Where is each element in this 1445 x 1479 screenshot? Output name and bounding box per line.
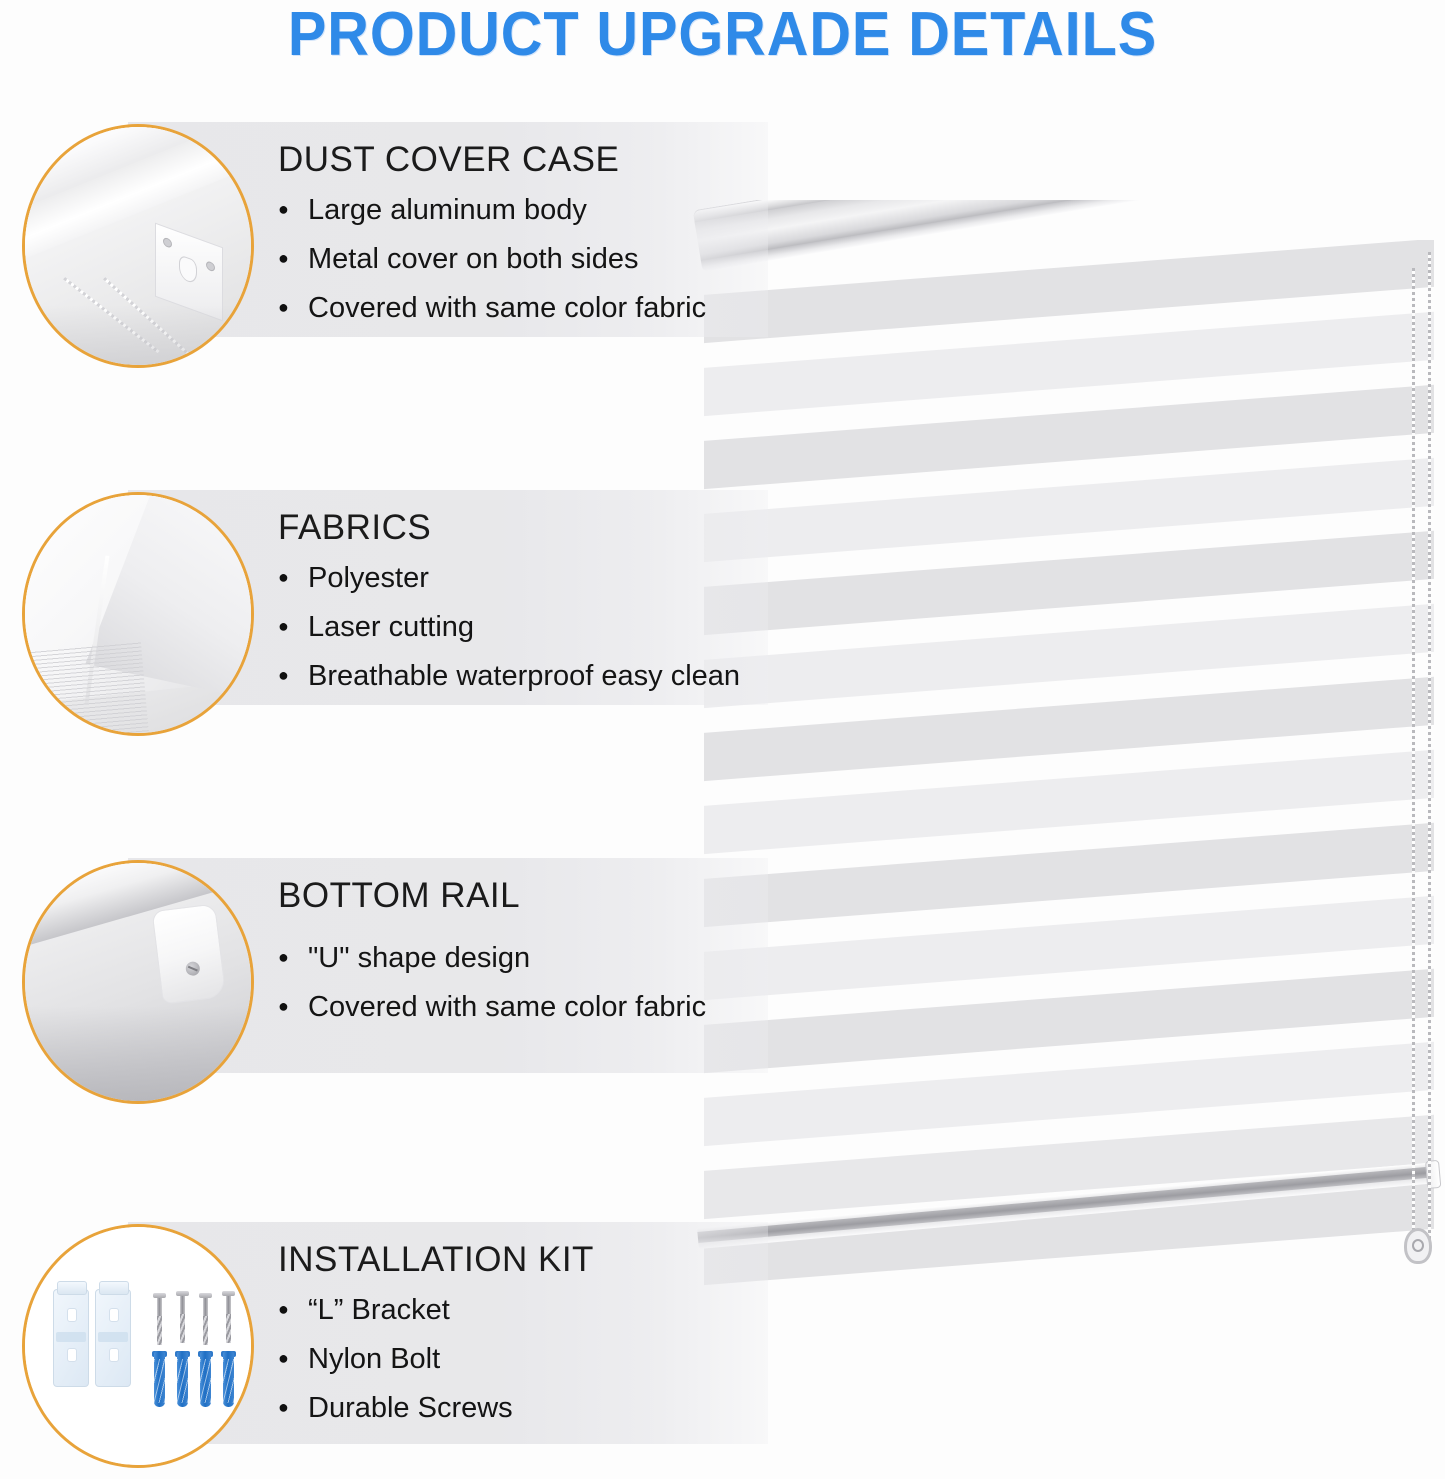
bracket-hole — [67, 1348, 77, 1362]
screw-icon — [157, 1293, 162, 1345]
feature-bullet: “L” Bracket — [278, 1286, 768, 1335]
screw-icon — [180, 1291, 185, 1343]
anchor-body — [200, 1351, 211, 1407]
feature-bullet: Nylon Bolt — [278, 1335, 768, 1384]
bead-chain-right-strand — [1428, 252, 1431, 1252]
bracket-tab — [56, 1332, 86, 1342]
feature-photo-oval-bottom-rail — [22, 860, 254, 1104]
bottom-rail-endcap-photo — [25, 863, 251, 1101]
anchor-body — [177, 1351, 188, 1407]
feature-block-bottom-rail: BOTTOM RAIL "U" shape design Covered wit… — [8, 858, 768, 1108]
fabric-mesh-texture — [22, 642, 149, 736]
feature-block-fabrics: FABRICS Polyester Laser cutting Breathab… — [8, 490, 768, 740]
photo-shadow — [25, 305, 251, 365]
l-bracket-icon — [53, 1289, 89, 1387]
feature-bullet: Covered with same color fabric — [278, 284, 768, 333]
zebra-fabric — [704, 240, 1434, 1330]
screw-shaft — [180, 1296, 185, 1343]
feature-photo-oval-fabrics — [22, 492, 254, 736]
bracket-tab — [98, 1332, 128, 1342]
chain-slot — [179, 254, 197, 285]
bracket-hole — [109, 1308, 119, 1322]
anchor-body — [154, 1351, 165, 1407]
l-bracket-icon — [95, 1289, 131, 1387]
feature-bullet: Covered with same color fabric — [278, 983, 768, 1032]
screw-shaft — [203, 1298, 208, 1345]
nylon-anchor-icon — [223, 1351, 234, 1407]
feature-bullet: Large aluminum body — [278, 186, 768, 235]
feature-photo-oval-installation-kit — [22, 1224, 254, 1468]
bracket-hole — [67, 1308, 77, 1322]
screw-icon — [206, 260, 215, 272]
feature-bullet: Laser cutting — [278, 603, 768, 652]
rail-end-cap — [152, 903, 227, 1004]
screw-icon — [163, 237, 172, 249]
folded-zebra-fabric-photo — [25, 495, 251, 733]
nylon-anchor-icon — [154, 1351, 165, 1407]
screw-icon — [185, 961, 201, 977]
feature-bullet: "U" shape design — [278, 934, 768, 983]
screw-icon — [226, 1291, 231, 1343]
feature-block-dust-cover-case: DUST COVER CASE Large aluminum body Meta… — [8, 122, 768, 372]
screw-shaft — [157, 1298, 162, 1345]
photo-shadow — [25, 1006, 251, 1101]
feature-bullet: Polyester — [278, 554, 768, 603]
aluminum-headrail-cassette-photo — [25, 127, 251, 365]
zebra-roller-blind-image — [690, 200, 1445, 1360]
brackets-screws-anchors-photo — [25, 1227, 251, 1465]
screw-icon — [203, 1293, 208, 1345]
feature-bullet: Breathable waterproof easy clean — [278, 652, 768, 701]
page-title: PRODUCT UPGRADE DETAILS — [51, 2, 1395, 68]
screw-shaft — [226, 1296, 231, 1343]
nylon-anchor-icon — [200, 1351, 211, 1407]
bead-chain-left-strand — [1412, 268, 1415, 1233]
anchor-body — [223, 1351, 234, 1407]
feature-photo-oval-dust-cover-case — [22, 124, 254, 368]
chain-tensioner-icon — [1404, 1228, 1432, 1264]
feature-bullet: Durable Screws — [278, 1384, 768, 1433]
feature-bullet: Metal cover on both sides — [278, 235, 768, 284]
nylon-anchor-icon — [177, 1351, 188, 1407]
feature-block-installation-kit: INSTALLATION KIT “L” Bracket Nylon Bolt … — [8, 1222, 768, 1472]
bracket-hole — [109, 1348, 119, 1362]
infographic-canvas: PRODUCT UPGRADE DETAILS — [0, 0, 1445, 1479]
